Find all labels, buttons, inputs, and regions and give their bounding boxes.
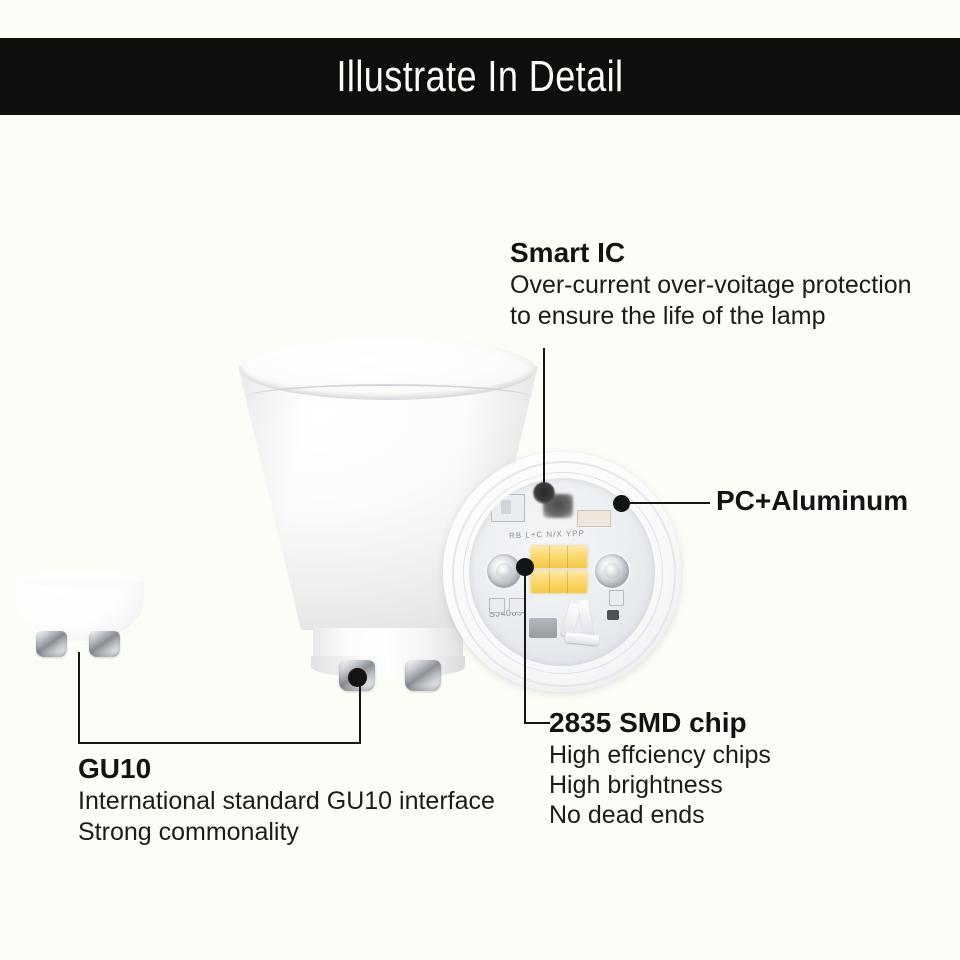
pcb-wire-b xyxy=(578,599,594,636)
lamp-neck-base xyxy=(311,656,465,678)
callout-smart-ic-line-2: to ensure the life of the lamp xyxy=(510,301,912,332)
callout-smd-chip-line-1: High effciency chips xyxy=(549,740,771,770)
pcb-pad-c xyxy=(509,598,525,613)
pcb-resistor xyxy=(577,510,611,527)
callout-pc-aluminum-heading: PC+Aluminum xyxy=(716,484,908,518)
smd-chip-lower xyxy=(531,571,587,593)
pcb-diode xyxy=(607,610,619,620)
smd-divider xyxy=(549,571,550,593)
callout-gu10: GU10 International standard GU10 interfa… xyxy=(78,752,495,848)
leader-line-smart-ic xyxy=(543,348,545,496)
callout-smart-ic-heading: Smart IC xyxy=(510,236,912,270)
led-lens-right xyxy=(593,552,631,590)
leader-line-gu10-left xyxy=(78,652,80,744)
callout-smd-chip-heading: 2835 SMD chip xyxy=(549,706,771,740)
callout-gu10-heading: GU10 xyxy=(78,752,495,786)
pcb-pad-a-inner xyxy=(501,500,511,514)
pcb-wire-c xyxy=(565,632,600,645)
callout-gu10-line-2: Strong commonality xyxy=(78,817,495,848)
led-driver-board-image: RB L+C N/X YPP SJ4085- xyxy=(443,452,681,692)
leader-line-gu10-bottom xyxy=(78,742,361,744)
base-pin-right xyxy=(89,631,120,657)
led-lens-right-core xyxy=(604,563,620,579)
pcb-pad-d xyxy=(609,590,624,606)
led-lens-left-core xyxy=(496,563,512,579)
leader-dot-pc-aluminum xyxy=(613,495,630,512)
page-title: Illustrate In Detail xyxy=(337,52,624,102)
gu10-pin-right xyxy=(405,660,441,691)
smd-chip-upper xyxy=(531,546,587,568)
pcb-pad-b xyxy=(489,598,505,613)
smd-divider xyxy=(549,546,550,568)
pcb-silkscreen-secondary: RB L+C N/X YPP xyxy=(509,529,585,541)
callout-smd-chip-line-2: High brightness xyxy=(549,770,771,800)
base-pin-left xyxy=(36,631,67,657)
header-banner: Illustrate In Detail xyxy=(0,38,960,115)
callout-gu10-line-1: International standard GU10 interface xyxy=(78,786,495,817)
leader-dot-smd-chip xyxy=(516,558,534,576)
callout-smart-ic-line-1: Over-current over-voitage protection xyxy=(510,270,912,301)
leader-line-pc-aluminum xyxy=(630,502,710,504)
leader-line-gu10-right xyxy=(359,678,361,744)
leader-dot-smart-ic xyxy=(533,482,555,504)
base-cup-top-edge xyxy=(16,572,144,588)
leader-dot-gu10 xyxy=(348,668,367,687)
callout-pc-aluminum: PC+Aluminum xyxy=(716,484,908,518)
leader-line-smd-horizontal xyxy=(524,722,550,724)
callout-smd-chip: 2835 SMD chip High effciency chips High … xyxy=(549,706,771,830)
infographic-canvas: Illustrate In Detail RB L+C xyxy=(0,0,960,960)
leader-line-smd-vertical xyxy=(524,568,526,724)
lamp-rim-highlight xyxy=(244,384,532,412)
smd-divider xyxy=(567,546,568,568)
gu10-base-piece-image xyxy=(16,575,144,663)
pcb-capacitor xyxy=(529,618,557,638)
smd-divider xyxy=(567,571,568,593)
callout-smd-chip-line-3: No dead ends xyxy=(549,800,771,830)
callout-smart-ic: Smart IC Over-current over-voitage prote… xyxy=(510,236,912,332)
